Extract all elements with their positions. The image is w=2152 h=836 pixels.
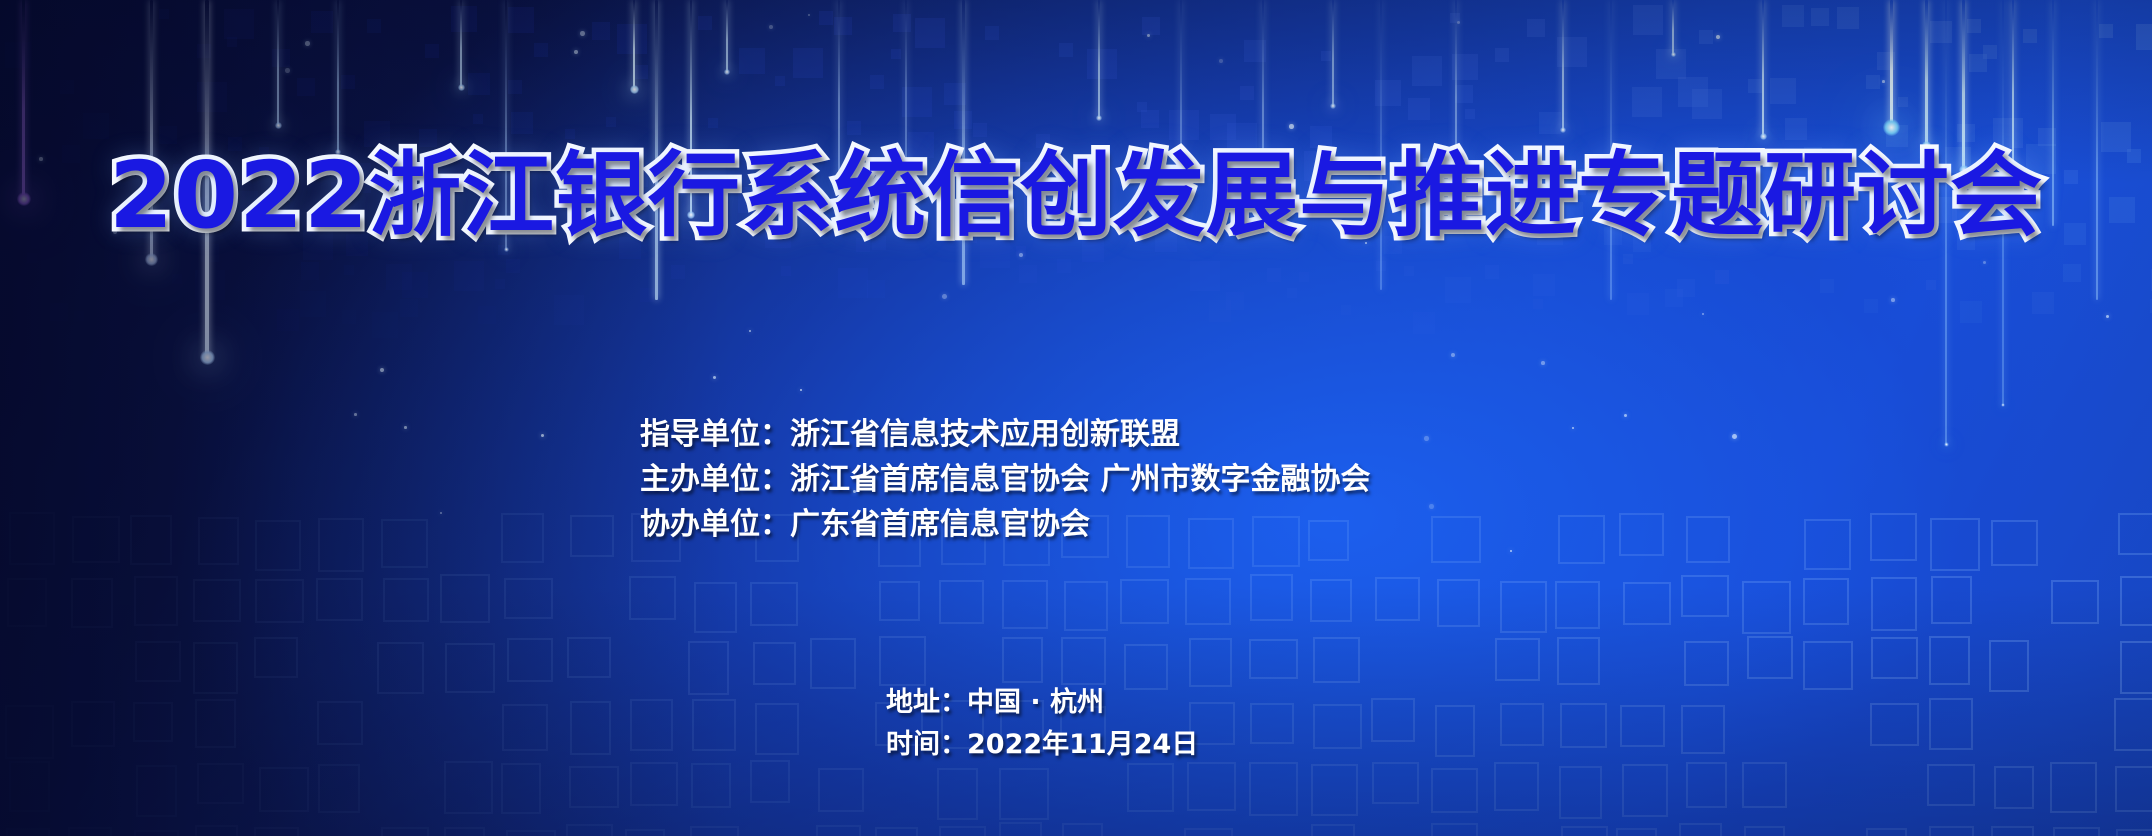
organizer-line-host: 主办单位：浙江省首席信息官协会 广州市数字金融协会 <box>640 457 1370 502</box>
organizers-block: 指导单位：浙江省信息技术应用创新联盟 主办单位：浙江省首席信息官协会 广州市数字… <box>640 412 1370 547</box>
conference-banner: 2022浙江银行系统信创发展与推进专题研讨会 指导单位：浙江省信息技术应用创新联… <box>0 0 2152 836</box>
banner-content: 2022浙江银行系统信创发展与推进专题研讨会 指导单位：浙江省信息技术应用创新联… <box>0 0 2152 836</box>
organizer-line-guidance: 指导单位：浙江省信息技术应用创新联盟 <box>640 412 1370 457</box>
organizer-line-coorganizer: 协办单位：广东省首席信息官协会 <box>640 502 1370 547</box>
page-title: 2022浙江银行系统信创发展与推进专题研讨会 <box>0 150 2152 242</box>
event-date: 时间：2022年11月24日 <box>886 724 1198 766</box>
event-location: 地址：中国 · 杭州 <box>886 682 1198 724</box>
event-meta-block: 地址：中国 · 杭州 时间：2022年11月24日 <box>886 682 1198 766</box>
